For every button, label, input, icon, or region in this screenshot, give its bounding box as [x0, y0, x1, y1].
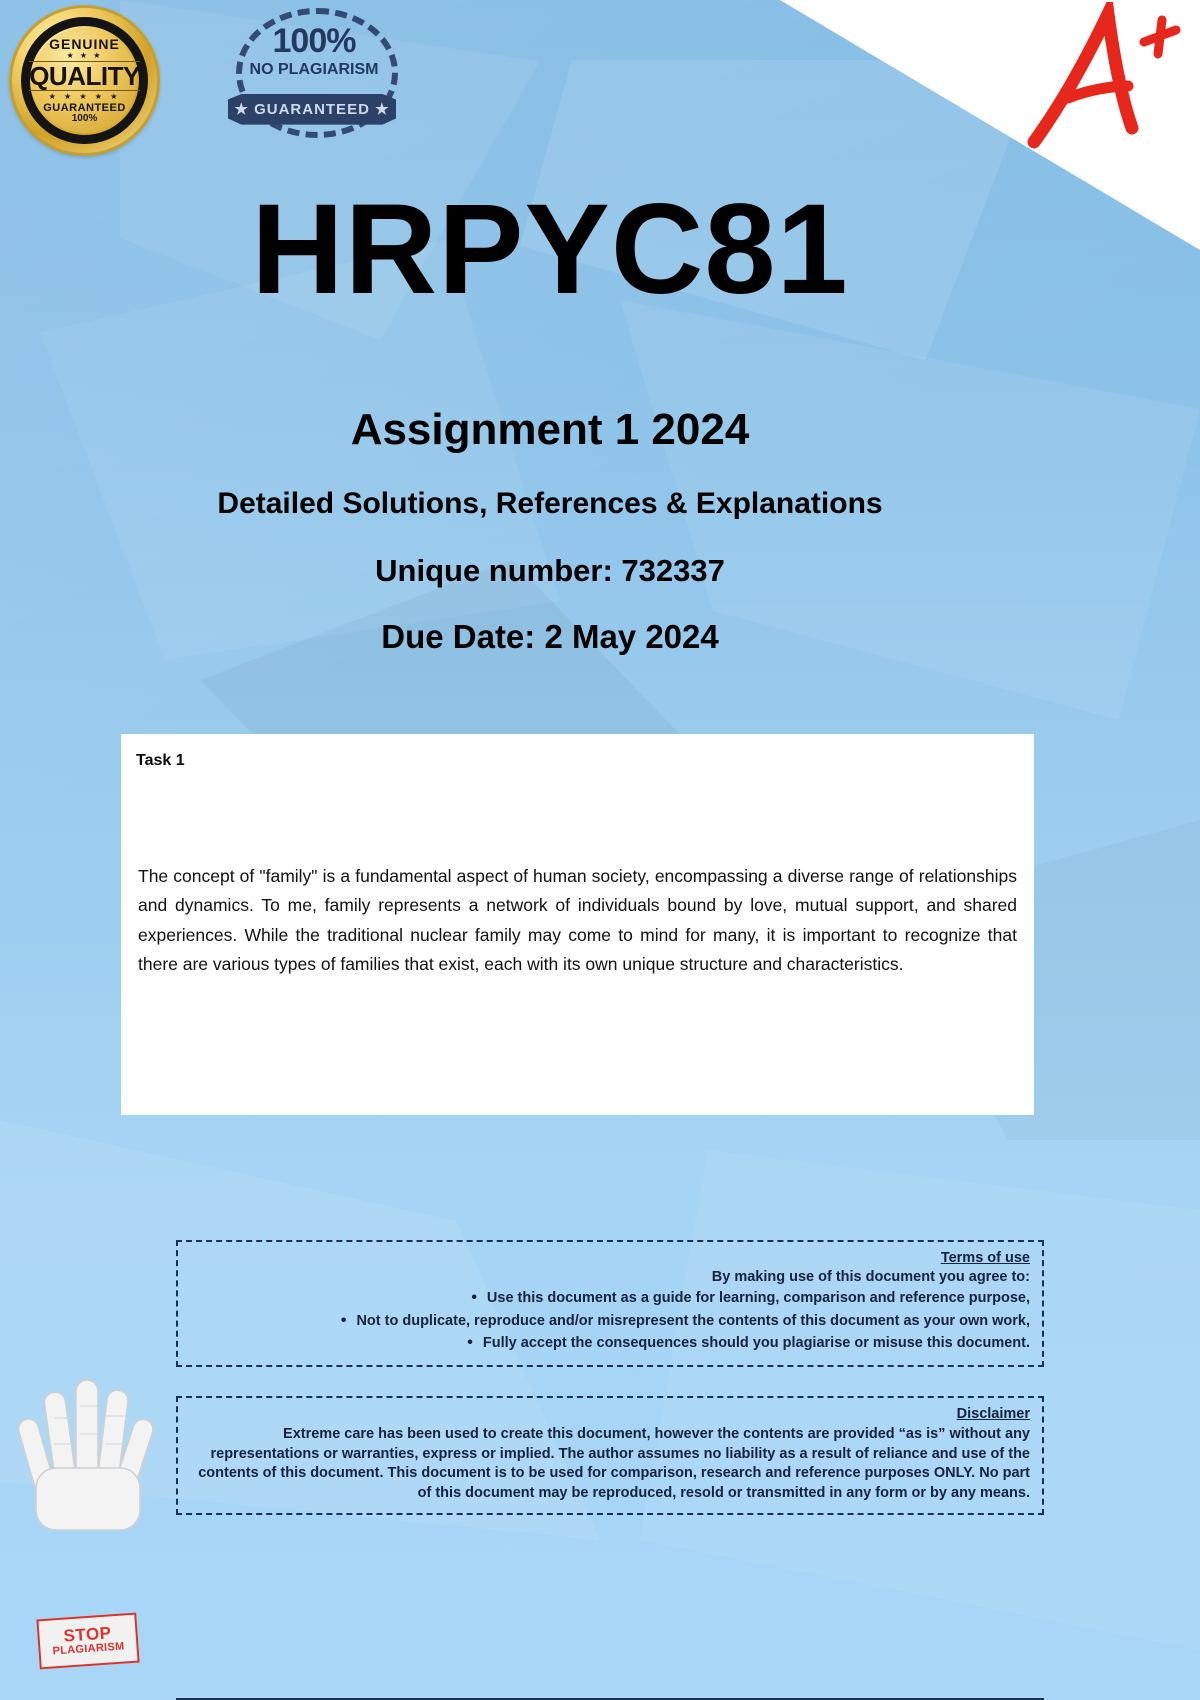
terms-bullet-item: •Use this document as a guide for learni… — [188, 1287, 1030, 1309]
genuine-quality-badge-icon: GENUINE ★ ★ ★ QUALITY ★ ★ ★ ★ ★ GUARANTE… — [12, 8, 157, 153]
task-card: Task 1 The concept of "family" is a fund… — [121, 734, 1034, 1115]
terms-lead: By making use of this document you agree… — [188, 1269, 1030, 1285]
no-plagiarism-badge-icon: 100% NO PLAGIARISM ★ GUARANTEED ★ — [222, 6, 402, 158]
stamp-line-plagiarism: PLAGIARISM — [52, 1642, 125, 1659]
module-code-title: HRPYC81 — [0, 186, 1100, 314]
terms-title: Terms of use — [188, 1250, 1030, 1266]
tagline: Detailed Solutions, References & Explana… — [0, 487, 1100, 521]
document-page: GENUINE ★ ★ ★ QUALITY ★ ★ ★ ★ ★ GUARANTE… — [0, 0, 1200, 1700]
bullet-icon: • — [471, 1289, 477, 1306]
stop-plagiarism-stamp: STOP PLAGIARISM — [36, 1613, 139, 1670]
due-date: Due Date: 2 May 2024 — [0, 618, 1100, 656]
terms-of-use-box: Terms of use By making use of this docum… — [176, 1240, 1044, 1367]
terms-bullet-text: Use this document as a guide for learnin… — [487, 1290, 1030, 1306]
task-body-text: The concept of "family" is a fundamental… — [135, 862, 1020, 980]
a-plus-grade-icon — [1016, 2, 1186, 152]
terms-bullet-item: •Fully accept the consequences should yo… — [188, 1332, 1030, 1354]
badge-quality-stars-bottom: ★ ★ ★ ★ ★ — [49, 93, 121, 101]
disclaimer-text: Extreme care has been used to create thi… — [188, 1425, 1030, 1503]
badge-quality-top: GENUINE — [49, 37, 120, 51]
disclaimer-box: Disclaimer Extreme care has been used to… — [176, 1396, 1044, 1515]
bullet-icon: • — [467, 1334, 473, 1351]
stop-plagiarism-hand-icon — [18, 1322, 164, 1532]
assignment-title: Assignment 1 2024 — [0, 405, 1100, 455]
terms-bullet-list: •Use this document as a guide for learni… — [188, 1287, 1032, 1354]
bullet-icon: • — [341, 1312, 347, 1329]
badge-plagiarism-ribbon: ★ GUARANTEED ★ — [228, 92, 396, 126]
terms-bullet-text: Not to duplicate, reproduce and/or misre… — [356, 1313, 1030, 1329]
terms-bullet-text: Fully accept the consequences should you… — [483, 1335, 1030, 1351]
badge-quality-percent: 100% — [72, 114, 98, 124]
badge-quality-main: QUALITY — [29, 61, 140, 91]
terms-bullet-item: •Not to duplicate, reproduce and/or misr… — [188, 1310, 1030, 1332]
badge-plagiarism-label: NO PLAGIARISM — [238, 62, 390, 78]
badge-quality-stars-top: ★ ★ ★ — [67, 52, 103, 60]
badge-plagiarism-percent: 100% — [252, 24, 376, 58]
disclaimer-title: Disclaimer — [188, 1406, 1030, 1422]
task-heading: Task 1 — [136, 752, 1020, 770]
unique-number: Unique number: 732337 — [0, 553, 1100, 589]
